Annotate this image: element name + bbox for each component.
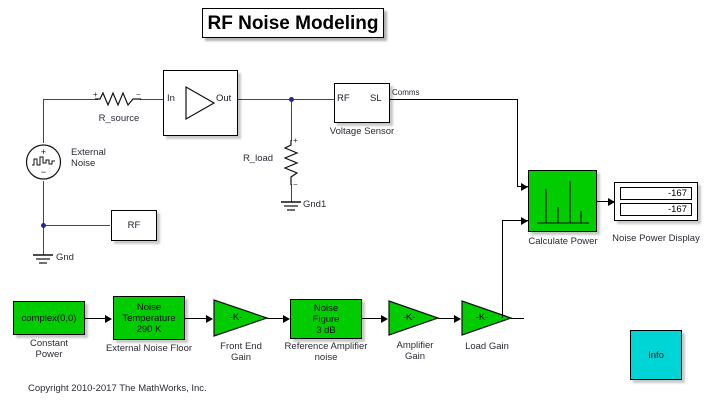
ground-icon — [30, 251, 56, 267]
amplifier-gain-text: -K- — [395, 312, 423, 323]
arrow-noisefloor-to-frontend — [206, 315, 213, 323]
rf-reference-label: RF — [128, 220, 141, 231]
wire-loadgain-up — [502, 220, 503, 318]
ground-gnd1[interactable] — [278, 198, 304, 214]
copyright-text: Copyright 2010-2017 The MathWorks, Inc. — [28, 383, 207, 394]
arrow-const-to-noisefloor — [105, 315, 112, 323]
external-noise-floor-block[interactable]: Noise Temperature 290 K — [113, 296, 185, 340]
r-load-label: R_load — [236, 153, 280, 164]
r-source-label: R_source — [89, 113, 149, 124]
r-load-minus: − — [293, 180, 298, 189]
amplifier-in-port: In — [167, 93, 175, 104]
r-source-minus: − — [136, 90, 141, 99]
page-title: RF Noise Modeling — [208, 14, 379, 33]
external-noise-label: External Noise — [71, 147, 106, 169]
rf-reference-block[interactable]: RF — [111, 210, 157, 241]
noise-source-icon: + − — [25, 143, 62, 181]
svg-text:+: + — [41, 147, 46, 157]
gnd-label: Gnd — [56, 252, 74, 263]
noise-power-display-caption: Noise Power Display — [604, 233, 708, 244]
constant-power-text: complex(0,0) — [22, 313, 77, 324]
constant-power-caption: Constant Power — [19, 338, 79, 360]
svg-text:−: − — [41, 167, 46, 177]
amplifier-gain-block[interactable]: -K- — [388, 300, 440, 336]
load-gain-caption: Load Gain — [459, 341, 515, 352]
amplifier-gain-caption: Amplifier Gain — [386, 340, 444, 362]
wire-top-left — [43, 99, 98, 100]
wire-resistor-to-amp — [140, 99, 164, 100]
spectrum-icon — [529, 171, 596, 231]
front-end-gain-block[interactable]: -K- — [213, 299, 269, 337]
voltage-sensor-sl-port: SL — [370, 93, 382, 104]
display-value-row: -167 — [620, 203, 692, 216]
info-block-label: Info — [648, 350, 664, 361]
simulink-model-canvas: RF Noise Modeling + − R_source + − Exter… — [0, 0, 714, 408]
wire-junction-to-rload — [291, 99, 292, 141]
load-gain-block[interactable]: -K- — [461, 300, 513, 336]
comms-signal-label: Comms — [392, 88, 420, 97]
gnd1-label: Gnd1 — [303, 199, 326, 210]
reference-amplifier-noise-text: Noise Figure 3 dB — [313, 303, 340, 336]
junction-sensor-node — [289, 97, 294, 102]
external-noise-floor-text: Noise Temperature 290 K — [122, 302, 175, 335]
wire-noise-to-top — [43, 99, 44, 143]
r-load-plus: + — [293, 136, 298, 145]
arrow-ampgain-to-loadgain — [454, 315, 461, 323]
calculate-power-caption: Calculate Power — [515, 236, 611, 247]
wire-comms-v — [517, 99, 518, 186]
display-value-row: -167 — [620, 187, 692, 200]
load-gain-text: -K- — [468, 312, 496, 323]
r-source-plus: + — [93, 90, 98, 99]
calculate-power-block[interactable] — [528, 170, 597, 232]
wire-gnd-to-rf-ref — [43, 225, 110, 226]
arrow-frontend-to-refamp — [283, 315, 290, 323]
external-noise-source[interactable]: + − — [25, 143, 62, 181]
front-end-gain-text: -K- — [221, 312, 251, 323]
ground-gnd[interactable] — [30, 251, 56, 267]
external-noise-floor-caption: External Noise Floor — [101, 343, 197, 354]
reference-amplifier-noise-caption: Reference Amplifier noise — [274, 341, 378, 363]
noise-power-display-block[interactable]: -167 -167 — [614, 182, 698, 221]
wire-loadgain-right — [511, 318, 524, 319]
junction-gnd-node — [41, 223, 46, 228]
arrow-refamp-to-ampgain — [381, 315, 388, 323]
ground-icon — [278, 198, 304, 214]
resistor-r-load[interactable] — [280, 140, 302, 186]
wire-comms-h — [390, 99, 518, 100]
arrow-loadgain-into-calc — [521, 217, 528, 225]
reference-amplifier-noise-block[interactable]: Noise Figure 3 dB — [290, 299, 362, 339]
model-title-box: RF Noise Modeling — [202, 8, 384, 38]
constant-power-block[interactable]: complex(0,0) — [13, 301, 85, 335]
arrow-comms-into-calc — [521, 183, 528, 191]
info-block[interactable]: Info — [630, 330, 682, 380]
front-end-gain-caption: Front End Gain — [211, 341, 271, 363]
voltage-sensor-caption: Voltage Sensor — [320, 126, 404, 137]
voltage-sensor-rf-port: RF — [337, 93, 350, 104]
resistor-icon — [280, 140, 302, 186]
wire-amp-to-sensor — [238, 99, 334, 100]
wire-noise-to-gnd — [43, 181, 44, 255]
amplifier-out-port: Out — [216, 93, 231, 104]
